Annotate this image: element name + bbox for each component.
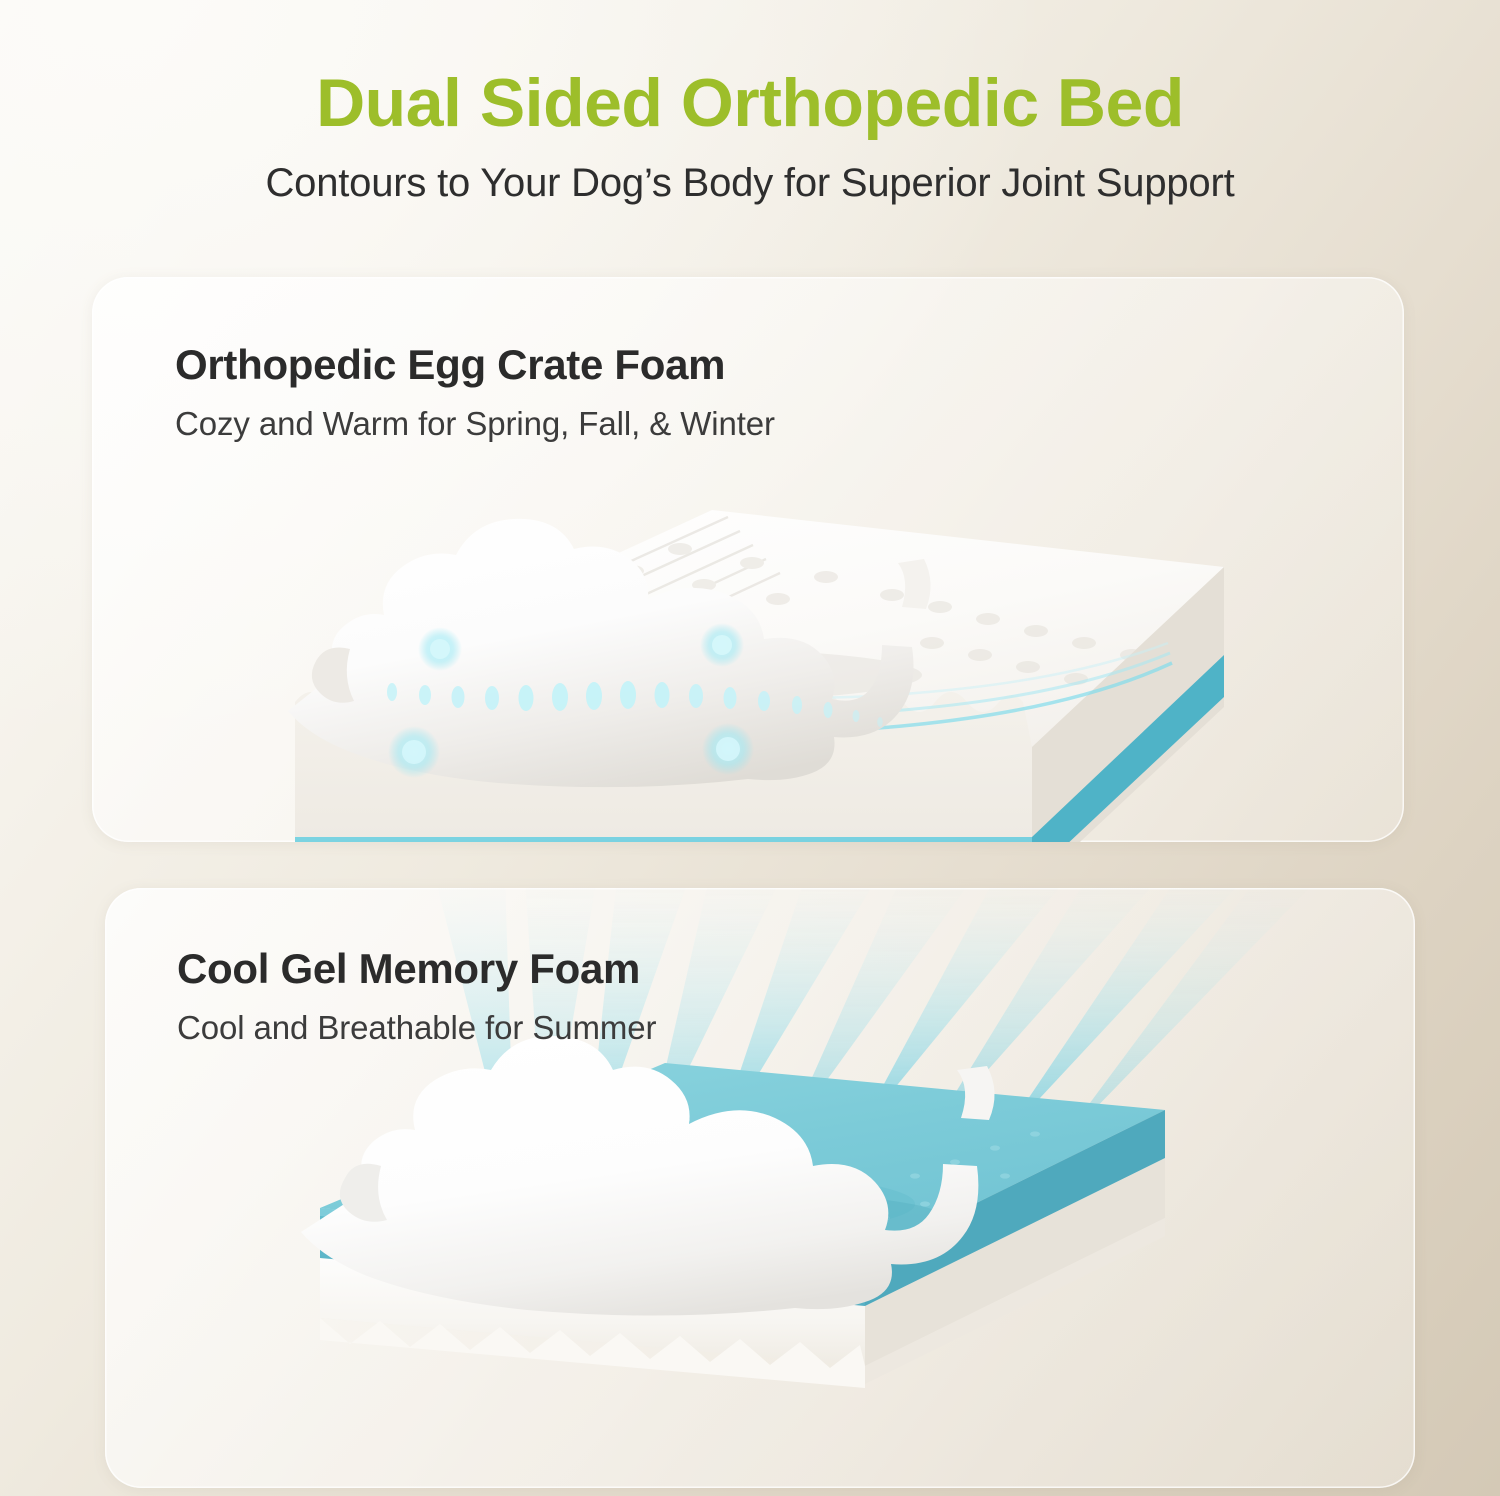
foam-wavy-ridge (295, 692, 1032, 842)
feature-card-gel-memory-foam: Cool Gel Memory Foam Cool and Breathable… (105, 888, 1415, 1488)
teal-bottom-strip (295, 655, 1224, 842)
dog-silhouette (288, 519, 931, 787)
product-infographic-page: Dual Sided Orthopedic Bed Contours to Yo… (0, 0, 1500, 1496)
card-subheading-egg-crate: Cozy and Warm for Spring, Fall, & Winter (175, 405, 775, 443)
foam-right-face (1032, 567, 1224, 842)
dog-silhouette (301, 1036, 995, 1316)
page-title: Dual Sided Orthopedic Bed (0, 68, 1500, 139)
spine-glow-dots (387, 681, 883, 727)
card-heading-egg-crate: Orthopedic Egg Crate Foam (175, 341, 725, 389)
gel-foam-layer (320, 1063, 1165, 1306)
header: Dual Sided Orthopedic Bed Contours to Yo… (0, 0, 1500, 206)
page-subtitle: Contours to Your Dog’s Body for Superior… (0, 161, 1500, 206)
pressure-ripples (562, 643, 1172, 731)
card-subheading-gel-foam: Cool and Breathable for Summer (177, 1009, 656, 1047)
joint-glow-circles (388, 623, 754, 778)
feature-card-egg-crate-foam: Orthopedic Egg Crate Foam Cozy and Warm … (92, 277, 1404, 842)
card-heading-gel-foam: Cool Gel Memory Foam (177, 945, 640, 993)
base-foam-slab (320, 1158, 1165, 1388)
foam-top-surface (292, 503, 1224, 764)
zigzag-bottom-edge (320, 1218, 1165, 1388)
